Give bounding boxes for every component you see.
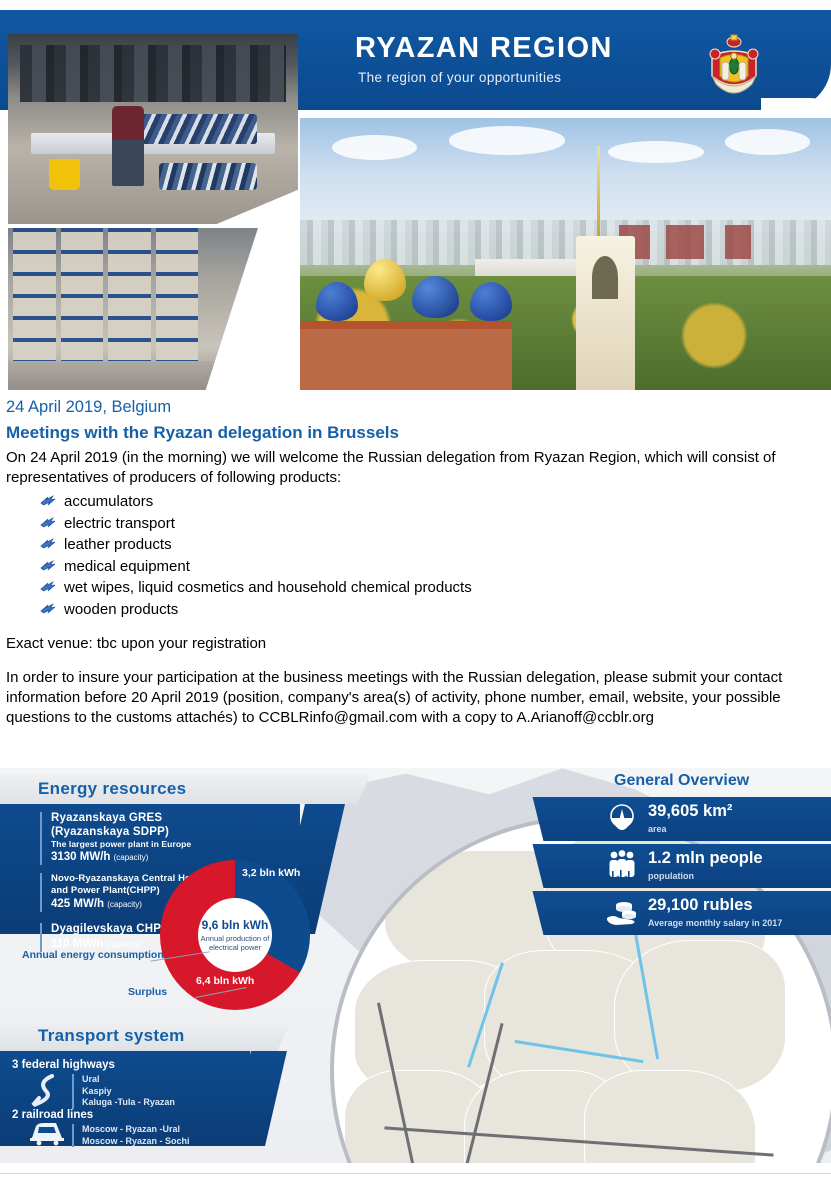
legend-annual-consumption: Annual energy consumption [22,949,164,961]
footer-divider [0,1173,831,1174]
overview-value: 29,100 rubles [648,896,753,915]
article-venue: Exact venue: tbc upon your registration [6,634,826,654]
general-overview-title: General Overview [614,772,749,790]
highway-item: Kaspiy [82,1086,175,1098]
photo-textile-factory [8,34,298,224]
list-item-label: leather products [64,536,172,553]
cloud [449,126,566,154]
overview-row-population: 1.2 mln people population [560,844,831,888]
region-infographic: Moskovskaya oblast Vladimir oblast Nizhe… [0,768,831,1163]
overview-row-salary: 29,100 rubles Average monthly salary in … [560,891,831,935]
photo-warehouse [8,228,258,390]
blue-arrow-bullet-icon [40,537,57,551]
list-item: leather products [40,534,826,556]
plant-capacity: 3130 MW/h (capacity) [51,850,191,865]
photo-gold-dome [364,259,406,301]
blue-arrow-bullet-icon [40,602,57,616]
article-registration: In order to insure your participation at… [6,668,826,728]
article-intro: On 24 April 2019 (in the morning) we wil… [6,448,826,487]
highway-item: Ural [82,1074,175,1086]
list-item: wooden products [40,599,826,621]
overview-caption: Average monthly salary in 2017 [648,918,782,928]
power-plant-entry: Ryazanskaya GRES (Ryazanskaya SDPP) The … [40,812,191,865]
photo-warehouse-floor [8,361,258,390]
district-shape [584,1070,756,1163]
list-item: medical equipment [40,556,826,578]
energy-resources-header: Energy resources [0,774,330,804]
overview-caption: area [648,824,667,834]
plant-note: The largest power plant in Europe [51,839,191,850]
list-item: accumulators [40,491,826,513]
overview-row-area: 39,605 km² area [560,797,831,841]
energy-donut-chart: 9,6 bln kWh Annual production of electri… [160,860,310,1010]
list-item-label: medical equipment [64,558,190,575]
highway-item: Kaluga -Tula - Ryazan [82,1097,175,1109]
donut-center-caption: Annual production of electrical power [201,934,270,953]
blue-arrow-bullet-icon [40,559,57,573]
people-group-icon [604,849,640,883]
plant-name: Dyagilevskaya CHPP [51,923,169,937]
overview-value: 39,605 km² [648,802,732,821]
photo-denim-stack [159,163,258,190]
railroad-item: Moscow - Ryazan - Sochi [82,1136,190,1148]
general-overview-header: General Overview [560,768,831,796]
donut-center: 9,6 bln kWh Annual production of electri… [198,898,272,972]
highways-heading: 3 federal highways [12,1059,115,1071]
railroad-item: Moscow - Ryazan -Ural [82,1124,190,1136]
blue-arrow-bullet-icon [40,580,57,594]
donut-label-consumption-value: 6,4 bln kWh [196,975,254,987]
article-subject: Meetings with the Ryazan delegation in B… [6,420,826,446]
photo-worker [112,106,144,186]
list-item: wet wipes, liquid cosmetics and househol… [40,577,826,599]
overview-caption: population [648,871,694,881]
cloud [608,141,704,164]
blue-arrow-bullet-icon [40,494,57,508]
photo-skyline [300,220,831,265]
photo-bell-tower [576,236,634,390]
product-list: accumulators electric transport leather … [6,491,826,620]
legend-surplus: Surplus [128,986,167,998]
overview-value: 1.2 mln people [648,849,763,868]
transport-system-title: Transport system [38,1026,185,1046]
money-hand-icon [604,896,640,930]
photo-bell-tower-spire [597,146,600,242]
photo-cathedral-body [300,321,512,390]
cloud [332,135,417,160]
article-date-location: 24 April 2019, Belgium [6,396,826,418]
list-item: electric transport [40,513,826,535]
map-pin-icon [604,802,640,836]
list-item-label: wooden products [64,601,178,618]
photo-ryazan-kremlin-cityscape [300,118,831,390]
highways-list: Ural Kaspiy Kaluga -Tula - Ryazan [72,1074,175,1109]
power-plant-entry: Dyagilevskaya CHPP 110 MW/h (capacity) [40,923,169,952]
railroads-list: Moscow - Ryazan -Ural Moscow - Ryazan - … [72,1124,190,1147]
donut-center-value: 9,6 bln kWh [202,918,269,932]
article-body: 24 April 2019, Belgium Meetings with the… [6,396,826,728]
train-icon [26,1120,66,1146]
energy-resources-title: Energy resources [38,779,186,799]
cloud [725,129,810,154]
list-item-label: accumulators [64,493,153,510]
photo-machinery [20,45,287,102]
photo-building [666,225,703,259]
blue-arrow-bullet-icon [40,516,57,530]
plant-name: Ryazanskaya GRES [51,812,191,826]
winding-road-icon [26,1074,62,1108]
list-item-label: electric transport [64,515,175,532]
transport-system-header: Transport system [0,1021,250,1051]
photo-building [725,225,752,259]
photo-collage [0,10,831,390]
donut-label-surplus-value: 3,2 bln kWh [242,867,300,879]
plant-name-2: (Ryazanskaya SDPP) [51,826,191,840]
photo-yellow-bucket [49,159,81,189]
list-item-label: wet wipes, liquid cosmetics and househol… [64,579,472,596]
photo-denim-stack [141,114,257,144]
